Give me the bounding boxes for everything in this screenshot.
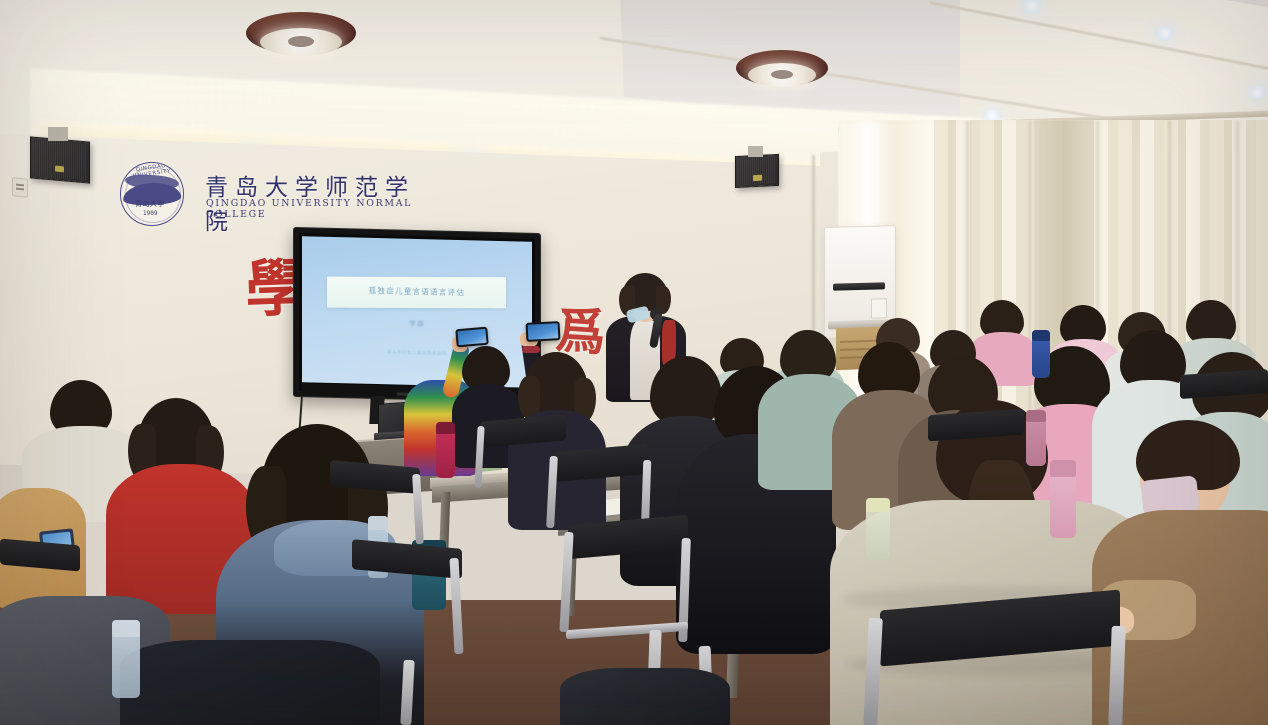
wall-speaker <box>735 154 779 188</box>
bottle-cap <box>866 498 890 512</box>
bottle-cap <box>368 516 388 530</box>
university-name-en: QINGDAO UNIVERSITY NORMAL COLLEGE <box>206 198 420 220</box>
speaker-mount <box>748 146 763 157</box>
bottle-cap <box>1032 330 1050 341</box>
speaker-grill <box>33 140 87 181</box>
speaker-mount <box>48 127 68 141</box>
water-bottle <box>112 620 140 698</box>
light-hub <box>288 36 314 47</box>
recessed-downlight <box>1248 86 1267 99</box>
smartphone[interactable] <box>526 321 561 342</box>
curtain-fold <box>1028 120 1033 450</box>
seal-year: 1909 <box>143 210 157 217</box>
dark-jacket <box>120 640 380 725</box>
water-bottle <box>866 498 890 560</box>
ac-control-panel <box>871 298 887 318</box>
thermos <box>1032 330 1050 378</box>
speaker-badge <box>753 175 762 181</box>
lecture-hall-photo: QINGDAO UNIVERSITY 青岛大学 1909 青岛大学师范学院 QI… <box>0 0 1268 725</box>
speaker-badge <box>55 166 64 173</box>
bottle-cap <box>436 422 455 434</box>
smartphone[interactable] <box>455 327 488 348</box>
wall-speaker <box>30 136 90 183</box>
ac-vent <box>833 282 885 290</box>
bottle-cap <box>112 620 140 637</box>
thermos <box>1050 460 1076 538</box>
university-seal-icon: QINGDAO UNIVERSITY 青岛大学 1909 <box>120 162 184 226</box>
phone-screen <box>457 329 486 345</box>
bottle-cap <box>1050 460 1076 477</box>
decorative-ceiling-light <box>246 12 356 54</box>
wall-outlet <box>12 177 28 198</box>
light-hub <box>771 70 793 79</box>
seal-center-text: 青岛大学 <box>135 199 165 209</box>
university-branding: QINGDAO UNIVERSITY 青岛大学 1909 青岛大学师范学院 QI… <box>120 160 420 230</box>
phone-screen <box>528 323 559 340</box>
bottle-cap <box>1026 410 1046 422</box>
recessed-downlight <box>1155 26 1175 40</box>
slide-author: 李娜 <box>302 316 532 332</box>
water-bottle <box>436 422 455 478</box>
wristband <box>522 346 540 353</box>
thermos <box>1026 410 1046 466</box>
decorative-ceiling-light <box>736 50 828 86</box>
